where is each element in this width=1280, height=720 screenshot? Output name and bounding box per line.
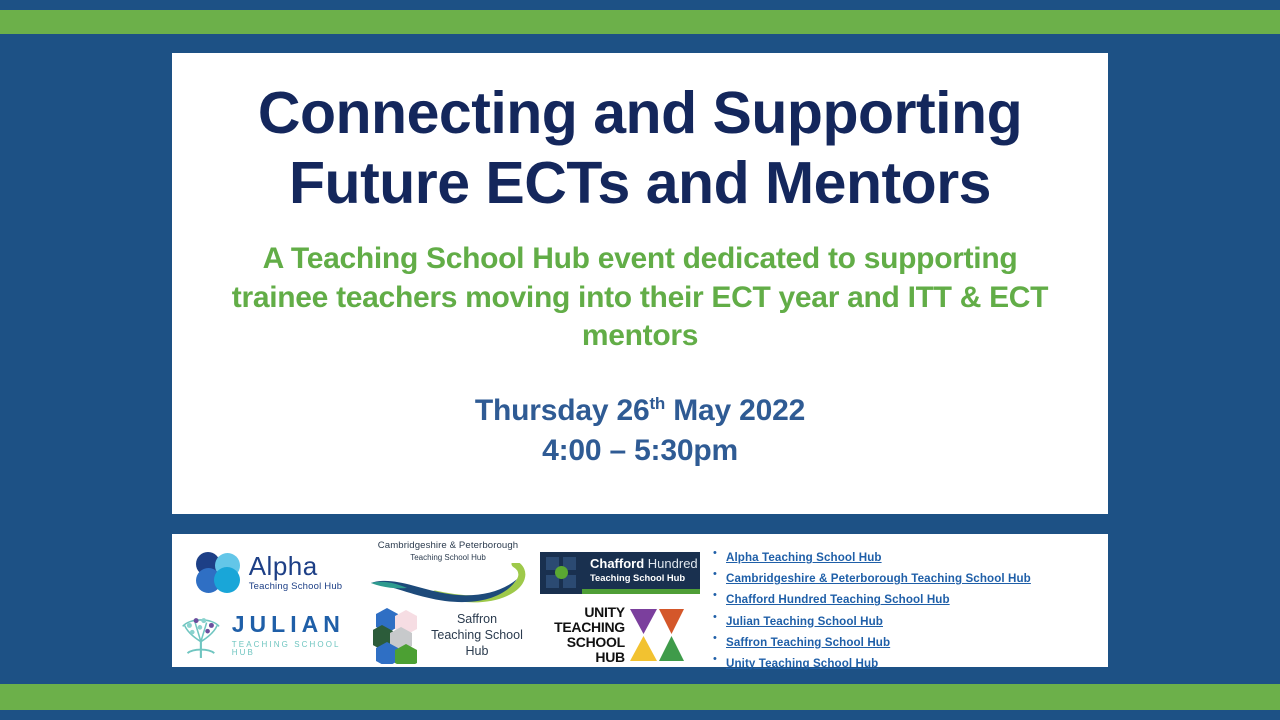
top-accent-band (0, 10, 1280, 34)
page-title: Connecting and Supporting Future ECTs an… (172, 53, 1108, 218)
cambridgeshire-wordmark: Cambridgeshire & Peterborough (365, 540, 531, 551)
saffron-tagline-2: Hub (431, 643, 523, 659)
logo-cambridgeshire-peterborough: Cambridgeshire & Peterborough Teaching S… (362, 540, 534, 605)
partner-logo-grid: Alpha Teaching School Hub Cambridgeshire… (172, 534, 702, 667)
partner-links-list: Alpha Teaching School Hub Cambridgeshire… (702, 534, 1108, 667)
julian-wordmark: JULIAN (232, 613, 362, 636)
chafford-wordmark-bold: Chafford (590, 556, 644, 571)
event-date-suffix: May 2022 (665, 394, 805, 427)
logo-saffron: Saffron Teaching School Hub (362, 605, 534, 665)
logo-julian: JULIAN TEACHING SCHOOL HUB (176, 605, 362, 665)
list-item[interactable]: Unity Teaching School Hub (726, 654, 1098, 672)
link-alpha[interactable]: Alpha Teaching School Hub (726, 551, 882, 564)
logo-unity: UNITY TEACHING SCHOOL HUB (534, 605, 706, 665)
unity-line-3: SCHOOL (554, 635, 625, 650)
saffron-tagline-1: Teaching School (431, 627, 523, 643)
event-time: 4:00 – 5:30pm (542, 434, 738, 467)
link-cambridgeshire-peterborough[interactable]: Cambridgeshire & Peterborough Teaching S… (726, 572, 1031, 585)
saffron-wordmark: Saffron (431, 611, 523, 627)
logo-chafford-hundred: Chafford Hundred Teaching School Hub (534, 540, 706, 605)
list-item[interactable]: Julian Teaching School Hub (726, 612, 1098, 630)
event-datetime: Thursday 26th May 2022 4:00 – 5:30pm (172, 391, 1108, 471)
unity-line-1: UNITY (554, 605, 625, 620)
event-date-ordinal: th (649, 394, 665, 413)
cambridgeshire-swoosh-icon (365, 563, 531, 605)
logo-alpha: Alpha Teaching School Hub (176, 540, 362, 605)
link-julian[interactable]: Julian Teaching School Hub (726, 615, 883, 628)
alpha-tagline: Teaching School Hub (249, 582, 343, 592)
cambridgeshire-tagline: Teaching School Hub (365, 553, 531, 562)
link-chafford-hundred[interactable]: Chafford Hundred Teaching School Hub (726, 593, 950, 606)
main-content-card: Connecting and Supporting Future ECTs an… (172, 53, 1108, 514)
link-unity[interactable]: Unity Teaching School Hub (726, 657, 878, 670)
list-item[interactable]: Chafford Hundred Teaching School Hub (726, 590, 1098, 608)
alpha-wordmark: Alpha (249, 553, 343, 579)
event-date-prefix: Thursday 26 (475, 394, 650, 427)
title-line-2: Future ECTs and Mentors (289, 150, 991, 216)
page-subtitle: A Teaching School Hub event dedicated to… (224, 240, 1056, 355)
title-line-1: Connecting and Supporting (258, 80, 1022, 146)
list-item[interactable]: Cambridgeshire & Peterborough Teaching S… (726, 569, 1098, 587)
saffron-hexagons-icon (373, 606, 425, 664)
chafford-wordmark-light: Hundred (648, 556, 698, 571)
chafford-squares-icon (540, 552, 582, 594)
list-item[interactable]: Alpha Teaching School Hub (726, 548, 1098, 566)
list-item[interactable]: Saffron Teaching School Hub (726, 633, 1098, 651)
partners-card: Alpha Teaching School Hub Cambridgeshire… (172, 534, 1108, 667)
bottom-accent-band (0, 684, 1280, 710)
unity-triangles-icon (628, 607, 686, 663)
unity-line-2: TEACHING (554, 620, 625, 635)
unity-line-4: HUB (554, 650, 625, 665)
julian-tagline: TEACHING SCHOOL HUB (232, 641, 362, 657)
julian-tree-icon (176, 609, 226, 661)
chafford-tagline: Teaching School Hub (590, 573, 700, 582)
alpha-circles-icon (196, 552, 242, 594)
link-saffron[interactable]: Saffron Teaching School Hub (726, 636, 890, 649)
